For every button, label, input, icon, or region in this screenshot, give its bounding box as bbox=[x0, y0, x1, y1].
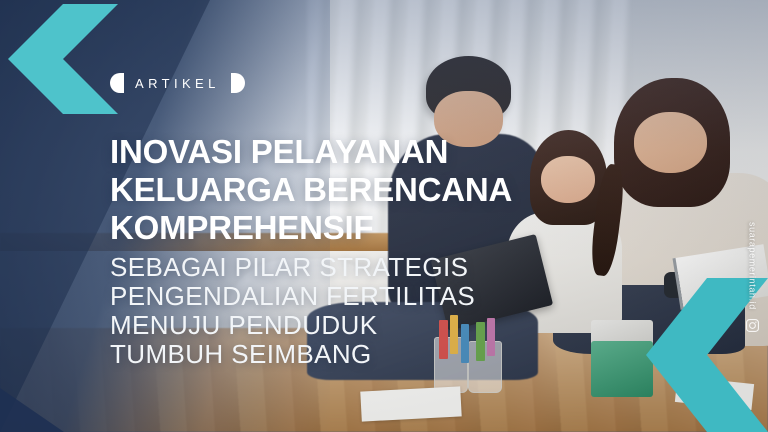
subheadline: SEBAGAI PILAR STRATEGIS PENGENDALIAN FER… bbox=[110, 253, 630, 369]
subheadline-line-4: TUMBUH SEIMBANG bbox=[110, 340, 630, 369]
headline-line-1: INOVASI PELAYANAN bbox=[110, 133, 670, 171]
pinwheel-triangle bbox=[63, 4, 118, 59]
subheadline-line-3: MENUJU PENDUDUK bbox=[110, 311, 630, 340]
bottom-left-corner-wedge bbox=[0, 388, 64, 432]
pinwheel-triangle bbox=[8, 59, 63, 114]
instagram-icon bbox=[745, 318, 760, 333]
pinwheel-decoration-top-left bbox=[8, 4, 118, 114]
subheadline-line-1: SEBAGAI PILAR STRATEGIS bbox=[110, 253, 630, 282]
watermark-site-label: suarapemerintah.id bbox=[748, 222, 758, 310]
headline-line-3: KOMPREHENSIF bbox=[110, 209, 670, 247]
headline: INOVASI PELAYANAN KELUARGA BERENCANA KOM… bbox=[110, 133, 670, 247]
artikel-badge: ARTIKEL bbox=[110, 73, 245, 93]
pinwheel-triangle bbox=[646, 278, 707, 355]
badge-label: ARTIKEL bbox=[135, 76, 220, 91]
pinwheel-triangle bbox=[707, 355, 768, 432]
pinwheel-triangle bbox=[8, 4, 63, 59]
watermark: suarapemerintah.id bbox=[745, 222, 760, 333]
headline-line-2: KELUARGA BERENCANA bbox=[110, 171, 670, 209]
badge-cap-right-icon bbox=[231, 73, 245, 93]
article-banner: ARTIKEL INOVASI PELAYANAN KELUARGA BEREN… bbox=[0, 0, 768, 432]
pinwheel-triangle bbox=[646, 355, 707, 432]
badge-cap-left-icon bbox=[110, 73, 124, 93]
subheadline-line-2: PENGENDALIAN FERTILITAS bbox=[110, 282, 630, 311]
